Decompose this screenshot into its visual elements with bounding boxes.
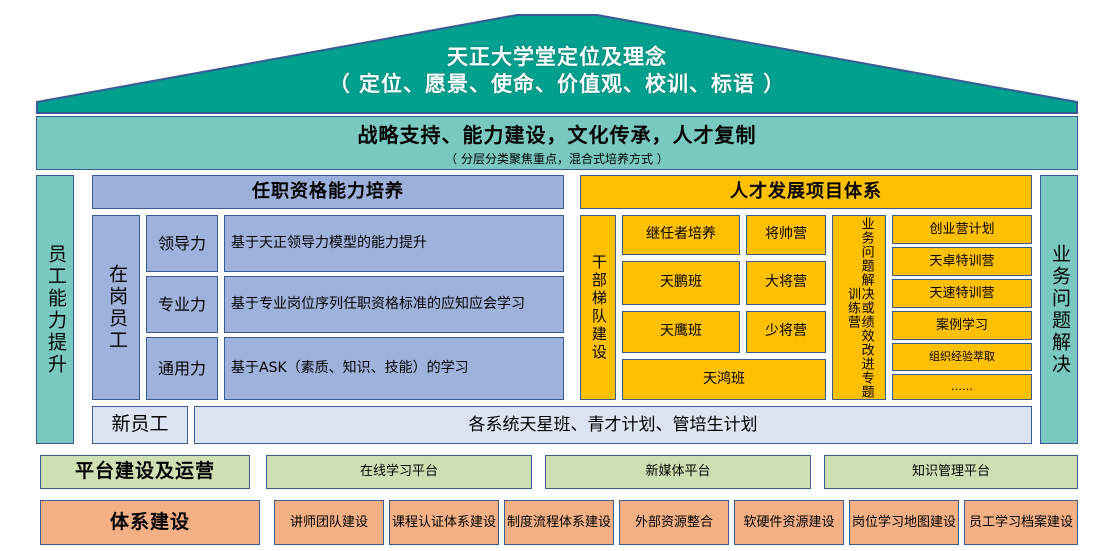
cadre-left-2[interactable]: 天鹰班 xyxy=(622,311,740,353)
cadre-right-2-label: 少将营 xyxy=(765,323,807,340)
blue-section-header: 任职资格能力培养 xyxy=(92,175,564,209)
onjob-group-label-text: 在岗员工 xyxy=(106,264,126,352)
system-row-title: 体系建设 xyxy=(40,500,260,545)
system-item-4-label: 软硬件资源建设 xyxy=(743,515,834,531)
blue-tag-1[interactable]: 专业力 xyxy=(146,276,218,333)
blue-desc-0-label: 基于天正领导力模型的能力提升 xyxy=(231,235,427,252)
biz-item-0-label: 创业营计划 xyxy=(929,222,994,238)
biz-item-4[interactable]: 组织经验萃取 xyxy=(892,343,1032,371)
biz-item-4-label: 组织经验萃取 xyxy=(929,350,995,363)
system-item-3-label: 外部资源整合 xyxy=(635,515,713,531)
platform-item-0[interactable]: 在线学习平台 xyxy=(266,455,532,489)
biz-item-1-label: 天卓特训营 xyxy=(929,254,994,270)
cadre-left-0-label: 继任者培养 xyxy=(646,226,716,243)
blue-tag-0[interactable]: 领导力 xyxy=(146,215,218,272)
cadre-group-label: 干部梯队建设 xyxy=(580,215,616,400)
blue-desc-2[interactable]: 基于ASK（素质、知识、技能）的学习 xyxy=(224,337,564,400)
blue-tag-2[interactable]: 通用力 xyxy=(146,337,218,400)
blue-desc-0[interactable]: 基于天正领导力模型的能力提升 xyxy=(224,215,564,272)
strategy-band: 战略支持、能力建设，文化传承，人才复制 （ 分层分类聚焦重点，混合式培养方式 ） xyxy=(36,116,1078,170)
system-item-5[interactable]: 岗位学习地图建设 xyxy=(849,500,959,545)
cadre-right-1-label: 大将营 xyxy=(765,274,807,291)
orange-section-header-label: 人才发展项目体系 xyxy=(730,181,882,203)
new-employee-desc[interactable]: 各系统天星班、青才计划、管培生计划 xyxy=(194,406,1032,444)
platform-item-2-label: 知识管理平台 xyxy=(912,464,990,480)
system-item-6-label: 员工学习档案建设 xyxy=(969,515,1073,531)
main-body: 员工能力提升 任职资格能力培养 在岗员工 领导力 基于天正领导力模型的能力提升 … xyxy=(36,173,1078,448)
biz-item-3[interactable]: 案例学习 xyxy=(892,311,1032,340)
blue-desc-1[interactable]: 基于专业岗位序列任职资格标准的应知应会学习 xyxy=(224,276,564,333)
orange-section-header: 人才发展项目体系 xyxy=(580,175,1032,209)
platform-row-title-label: 平台建设及运营 xyxy=(75,460,215,483)
system-item-4[interactable]: 软硬件资源建设 xyxy=(734,500,844,545)
biz-training-label: 业务问题解决或绩效改进专题训练营 xyxy=(832,215,886,400)
biz-item-0[interactable]: 创业营计划 xyxy=(892,215,1032,244)
biz-item-3-label: 案例学习 xyxy=(936,318,988,334)
system-row-title-label: 体系建设 xyxy=(110,511,190,534)
blue-tag-1-label: 专业力 xyxy=(158,295,206,315)
onjob-group-label: 在岗员工 xyxy=(92,215,140,400)
biz-item-2[interactable]: 天速特训营 xyxy=(892,279,1032,308)
system-item-0[interactable]: 讲师团队建设 xyxy=(274,500,384,545)
cadre-left-1-label: 天鹏班 xyxy=(660,274,702,291)
diagram-canvas: 天正大学堂定位及理念 （ 定位、愿景、使命、价值观、校训、标语 ） 战略支持、能… xyxy=(0,0,1114,551)
strategy-band-main: 战略支持、能力建设，文化传承，人才复制 xyxy=(358,119,757,148)
biz-item-2-label: 天速特训营 xyxy=(929,286,994,302)
roof-shape: 天正大学堂定位及理念 （ 定位、愿景、使命、价值观、校训、标语 ） xyxy=(36,14,1078,114)
system-item-6[interactable]: 员工学习档案建设 xyxy=(964,500,1078,545)
blue-desc-2-label: 基于ASK（素质、知识、技能）的学习 xyxy=(231,360,469,377)
cadre-right-1[interactable]: 大将营 xyxy=(746,261,826,305)
biz-item-1[interactable]: 天卓特训营 xyxy=(892,247,1032,276)
left-pillar: 员工能力提升 xyxy=(36,175,74,444)
blue-tag-0-label: 领导力 xyxy=(158,234,206,254)
new-employee-desc-label: 各系统天星班、青才计划、管培生计划 xyxy=(469,415,758,436)
new-employee-tag[interactable]: 新员工 xyxy=(92,406,188,444)
system-item-2[interactable]: 制度流程体系建设 xyxy=(504,500,614,545)
system-item-3[interactable]: 外部资源整合 xyxy=(619,500,729,545)
left-pillar-label: 员工能力提升 xyxy=(45,244,65,376)
biz-item-5[interactable]: …… xyxy=(892,374,1032,400)
roof-polygon xyxy=(37,15,1077,113)
cadre-left-1[interactable]: 天鹏班 xyxy=(622,261,740,305)
blue-section-header-label: 任职资格能力培养 xyxy=(252,181,404,203)
right-pillar: 业务问题解决 xyxy=(1040,175,1078,444)
cadre-right-2[interactable]: 少将营 xyxy=(746,311,826,353)
system-item-0-label: 讲师团队建设 xyxy=(290,515,368,531)
platform-row-title: 平台建设及运营 xyxy=(40,455,250,489)
biz-item-5-label: …… xyxy=(951,380,973,393)
new-employee-tag-label: 新员工 xyxy=(111,413,168,436)
system-item-5-label: 岗位学习地图建设 xyxy=(852,515,956,531)
platform-item-1-label: 新媒体平台 xyxy=(645,464,710,480)
cadre-wide[interactable]: 天鸿班 xyxy=(622,359,826,400)
cadre-right-0[interactable]: 将帅营 xyxy=(746,215,826,255)
strategy-band-sub: （ 分层分类聚焦重点，混合式培养方式 ） xyxy=(445,150,669,167)
system-item-1-label: 课程认证体系建设 xyxy=(392,515,496,531)
cadre-group-label-text: 干部梯队建设 xyxy=(590,254,606,362)
blue-desc-1-label: 基于专业岗位序列任职资格标准的应知应会学习 xyxy=(231,296,525,313)
platform-item-2[interactable]: 知识管理平台 xyxy=(824,455,1078,489)
cadre-left-2-label: 天鹰班 xyxy=(660,323,702,340)
cadre-left-0[interactable]: 继任者培养 xyxy=(622,215,740,255)
system-item-2-label: 制度流程体系建设 xyxy=(507,515,611,531)
cadre-wide-label: 天鸿班 xyxy=(703,371,745,388)
blue-tag-2-label: 通用力 xyxy=(158,359,206,379)
biz-training-label-text: 业务问题解决或绩效改进专题训练营 xyxy=(845,216,872,399)
cadre-right-0-label: 将帅营 xyxy=(765,226,807,243)
platform-item-0-label: 在线学习平台 xyxy=(360,464,438,480)
system-item-1[interactable]: 课程认证体系建设 xyxy=(389,500,499,545)
right-pillar-label: 业务问题解决 xyxy=(1049,244,1069,376)
platform-item-1[interactable]: 新媒体平台 xyxy=(545,455,811,489)
